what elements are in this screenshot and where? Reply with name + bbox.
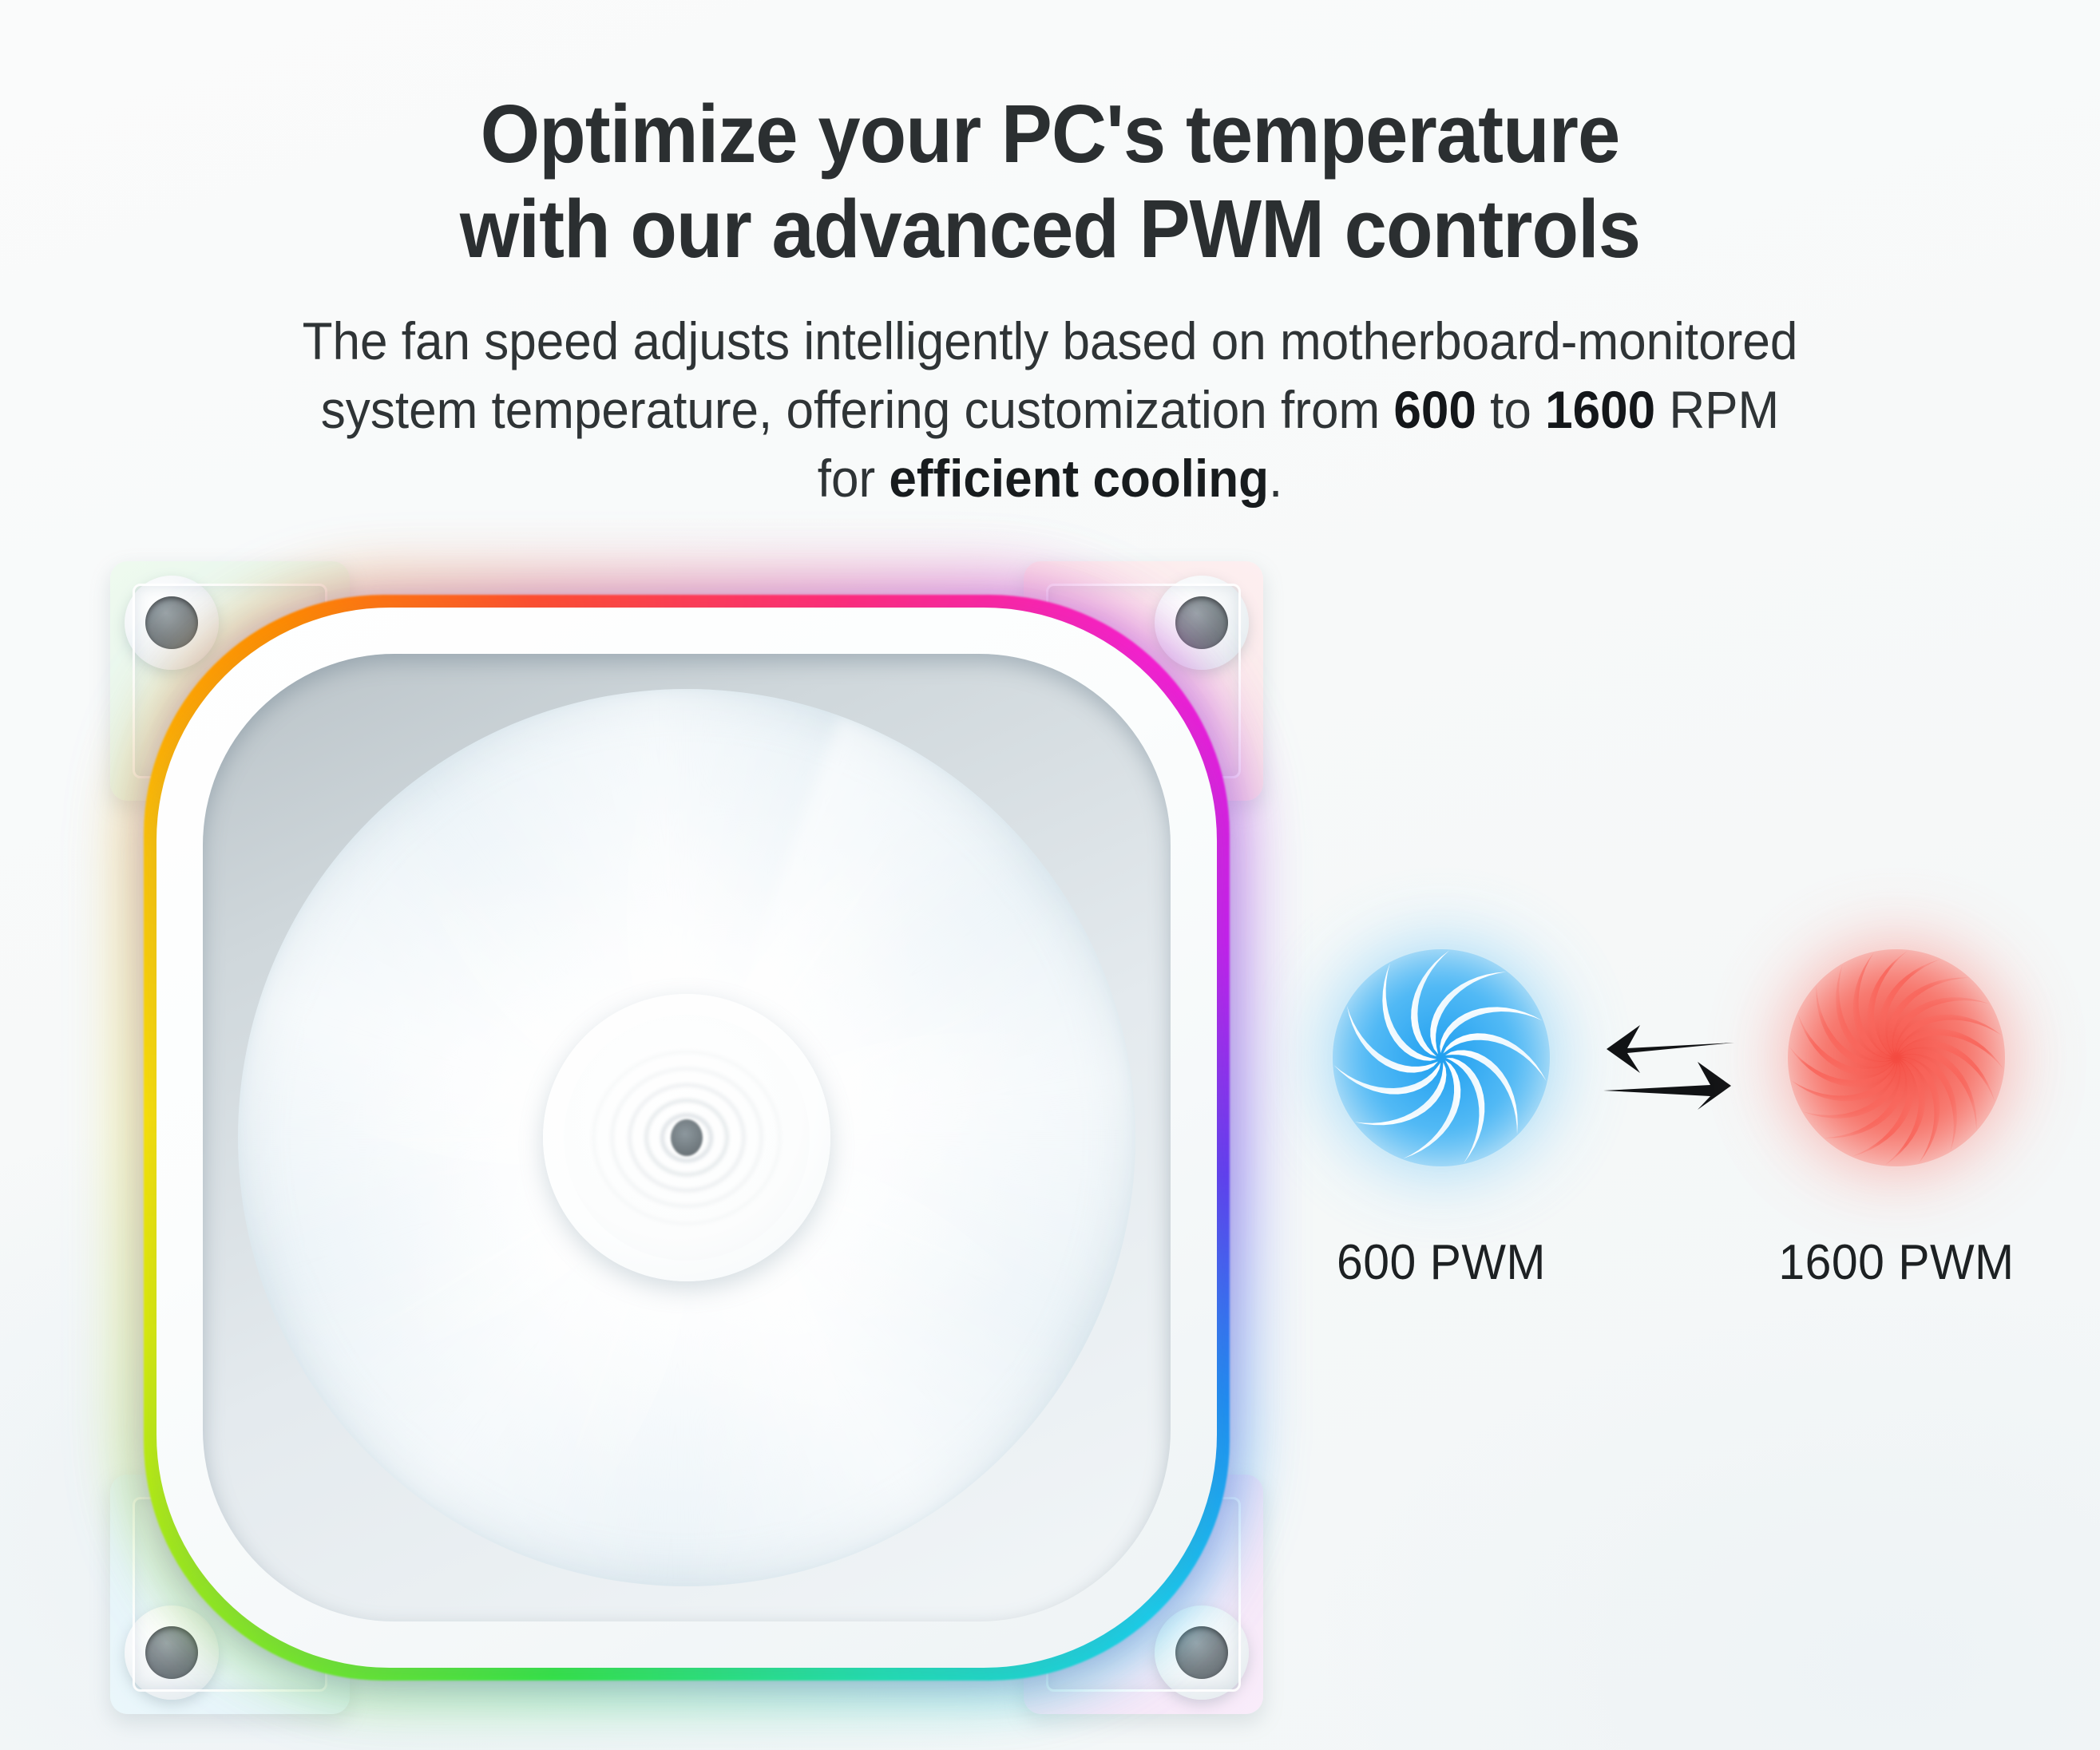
arrow-left-icon <box>1607 1025 1734 1073</box>
pwm-high-label: 1600 PWM <box>1749 1234 2045 1291</box>
subcopy: The fan speed adjusts intelligently base… <box>63 277 2037 513</box>
headline-line-2: with our advanced PWM controls <box>73 181 2027 276</box>
low-speed-blades <box>1286 902 1597 1214</box>
subcopy-line-3-suffix: . <box>1269 449 1282 508</box>
subcopy-line-1: The fan speed adjusts intelligently base… <box>63 307 2037 376</box>
pwm-low-item: 600 PWM <box>1286 902 1597 1291</box>
swirl-blade <box>1347 1006 1438 1073</box>
promo-stage: Optimize your PC's temperature with our … <box>0 0 2100 1750</box>
arrow-right-icon <box>1603 1062 1731 1110</box>
pwm-high-item: 1600 PWM <box>1741 902 2052 1291</box>
swirl-blade <box>1382 963 1436 1061</box>
pwm-low-label: 600 PWM <box>1294 1234 1590 1291</box>
hub-logo-face <box>564 1015 810 1261</box>
subcopy-line-3-prefix: for <box>818 449 890 508</box>
subcopy-line-2-mid: to <box>1476 380 1545 439</box>
swirl-blade <box>1440 1007 1542 1053</box>
fan-swirl-high-icon <box>1741 902 2052 1214</box>
headline-line-1: Optimize your PC's temperature <box>481 88 1620 180</box>
page-title: Optimize your PC's temperature with our … <box>73 0 2027 277</box>
hub-ripple-ring <box>592 1050 782 1225</box>
copy-block: Optimize your PC's temperature with our … <box>0 0 2100 513</box>
fan-body <box>144 595 1230 1681</box>
fan-product-image <box>120 571 1254 1704</box>
swirl-blade <box>1443 1033 1546 1081</box>
pwm-comparison: 600 PWM 1600 PWM <box>1286 902 2052 1349</box>
speed-transition-arrows <box>1603 1014 1734 1126</box>
efficient-cooling-emphasis: efficient cooling <box>889 449 1269 508</box>
rpm-min-value: 600 <box>1393 380 1476 439</box>
rpm-max-value: 1600 <box>1545 380 1655 439</box>
subcopy-line-2-suffix: RPM <box>1655 380 1779 439</box>
high-speed-blades <box>1741 902 2052 1214</box>
subcopy-line-2-prefix: system temperature, offering customizati… <box>321 380 1394 439</box>
fan-hub <box>543 994 830 1281</box>
subcopy-line-2: system temperature, offering customizati… <box>63 376 2037 445</box>
fan-swirl-low-icon <box>1286 902 1597 1214</box>
subcopy-line-3: for efficient cooling. <box>63 445 2037 513</box>
